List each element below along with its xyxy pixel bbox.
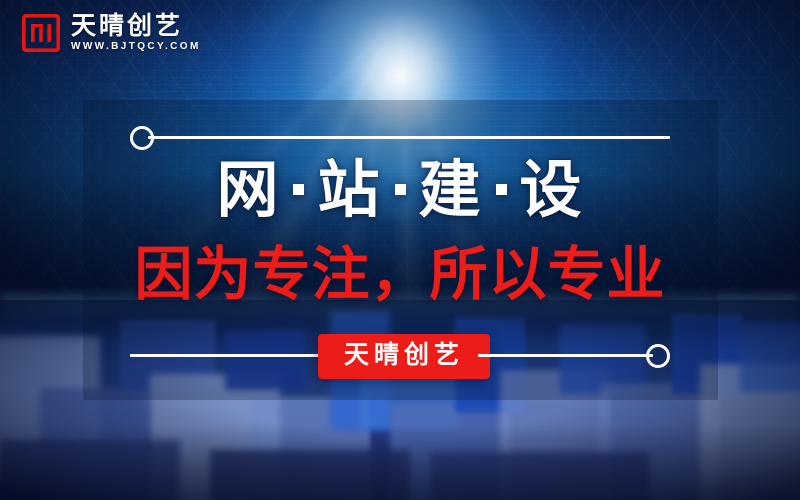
page-title: 网 站 建 设 <box>0 160 800 222</box>
top-divider-line <box>148 136 670 139</box>
website-construction-banner: 天晴创艺 WWW.BJTQCY.COM 网 站 建 设 因为专注，所以专业 天晴… <box>0 0 800 500</box>
headline-char-1: 网 <box>216 160 280 222</box>
bottom-divider-line-left <box>130 354 320 357</box>
headline-separator-icon <box>496 184 507 195</box>
bottom-divider-line-right <box>478 354 653 357</box>
logo-text-block: 天晴创艺 WWW.BJTQCY.COM <box>71 14 201 52</box>
logo-website-url: WWW.BJTQCY.COM <box>71 42 201 52</box>
brand-badge: 天晴创艺 <box>318 334 490 379</box>
headline-char-3: 建 <box>419 160 483 222</box>
headline-char-4: 设 <box>520 160 584 222</box>
bottom-right-ring-icon <box>646 344 670 368</box>
logo-company-name: 天晴创艺 <box>71 14 201 39</box>
page-subtitle: 因为专注，所以专业 <box>0 246 800 304</box>
brand-logo[interactable]: 天晴创艺 WWW.BJTQCY.COM <box>22 14 201 52</box>
headline-separator-icon <box>293 184 304 195</box>
headline-char-2: 站 <box>317 160 381 222</box>
logo-mark-icon <box>22 14 60 52</box>
headline-separator-icon <box>395 184 406 195</box>
